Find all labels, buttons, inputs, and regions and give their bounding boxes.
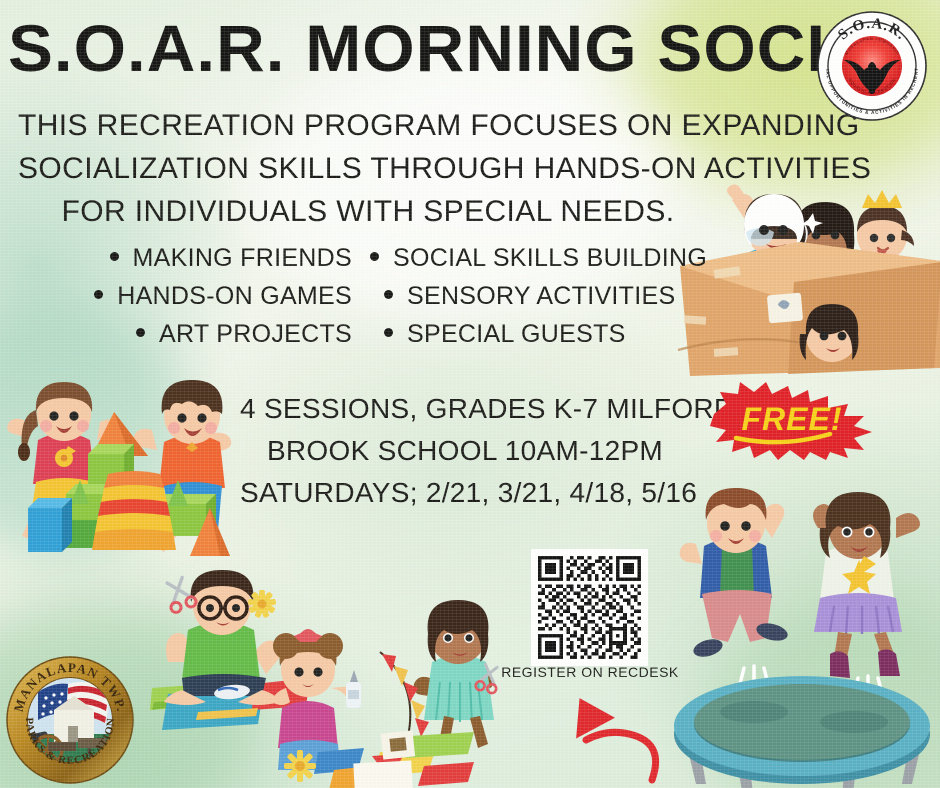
qr-code[interactable]: [531, 549, 648, 666]
soar-logo: S.O.A.R. SOCIAL OPPORTUNITIES & ACTIVITI…: [816, 10, 928, 122]
list-item: HANDS-ON GAMES: [94, 282, 352, 320]
bullet-dot-icon: [136, 328, 145, 337]
program-description: THIS RECREATION PROGRAM FOCUSES ON EXPAN…: [18, 104, 718, 233]
list-item: SENSORY ACTIVITIES: [384, 282, 675, 320]
list-item: MAKING FRIENDS: [110, 244, 353, 282]
manalapan-township-parks-recreation-seal: MANALAPAN TWP. PARKS & RECREATION: [4, 654, 136, 784]
qr-code-image[interactable]: [538, 556, 641, 659]
kids-with-building-blocks-illustration: [0, 368, 276, 574]
curved-arrow-icon: [536, 684, 662, 788]
activity-bullet-lists: MAKING FRIENDS HANDS-ON GAMES ART PROJEC…: [62, 244, 682, 358]
list-item-label: MAKING FRIENDS: [133, 244, 353, 273]
list-item-label: HANDS-ON GAMES: [117, 282, 352, 311]
list-item: SOCIAL SKILLS BUILDING: [370, 244, 707, 282]
bullet-column-right: SOCIAL SKILLS BUILDING SENSORY ACTIVITIE…: [370, 244, 680, 358]
bullet-dot-icon: [384, 328, 393, 337]
page-title: S.O.A.R. MORNING SOCIAL: [8, 14, 783, 82]
bullet-dot-icon: [384, 290, 393, 299]
kids-doing-art-projects-illustration: [158, 566, 506, 788]
details-line: BROOK SCHOOL 10AM-12PM: [240, 430, 690, 472]
session-details: 4 SESSIONS, GRADES K-7 MILFORD BROOK SCH…: [240, 388, 690, 514]
bullet-dot-icon: [94, 290, 103, 299]
description-line: THIS RECREATION PROGRAM FOCUSES ON EXPAN…: [18, 104, 718, 147]
description-line: FOR INDIVIDUALS WITH SPECIAL NEEDS.: [18, 190, 718, 233]
bullet-dot-icon: [370, 252, 379, 261]
list-item-label: SPECIAL GUESTS: [407, 320, 626, 349]
qr-code-caption: REGISTER ON RECDESK: [500, 664, 680, 680]
bullet-column-left: MAKING FRIENDS HANDS-ON GAMES ART PROJEC…: [62, 244, 352, 358]
description-line: SOCIALIZATION SKILLS THROUGH HANDS-ON AC…: [18, 147, 718, 190]
list-item-label: SENSORY ACTIVITIES: [407, 282, 675, 311]
details-line: 4 SESSIONS, GRADES K-7 MILFORD: [240, 388, 690, 430]
list-item-label: ART PROJECTS: [159, 320, 352, 349]
list-item: ART PROJECTS: [136, 320, 352, 358]
free-label: FREE!: [742, 401, 843, 437]
list-item-label: SOCIAL SKILLS BUILDING: [393, 244, 707, 273]
flyer-canvas: S.O.A.R. MORNING SOCIAL THIS RECREATION …: [0, 0, 940, 788]
details-line: SATURDAYS; 2/21, 3/21, 4/18, 5/16: [240, 472, 690, 514]
list-item: SPECIAL GUESTS: [384, 320, 626, 358]
bullet-dot-icon: [110, 252, 119, 261]
kids-jumping-on-trampoline-illustration: [668, 486, 940, 788]
kids-in-cardboard-box-illustration: [686, 108, 940, 376]
status-badge: FREE!: [708, 378, 878, 462]
